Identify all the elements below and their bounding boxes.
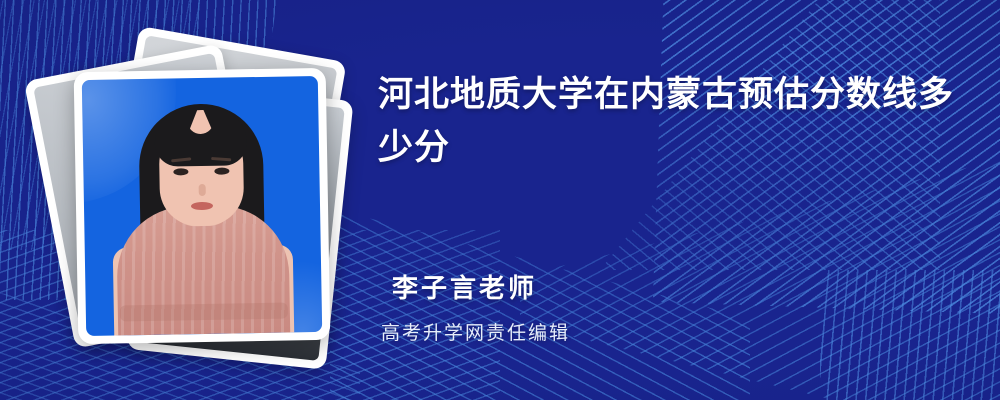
author-block: 李子言老师 高考升学网责任编辑 (378, 268, 964, 345)
teacher-portrait-photo (82, 76, 322, 336)
nose (199, 184, 206, 196)
banner-title: 河北地质大学在内蒙古预估分数线多少分 (378, 68, 964, 174)
portrait-figure (82, 76, 322, 336)
banner-text-column: 河北地质大学在内蒙古预估分数线多少分 李子言老师 高考升学网责任编辑 (372, 0, 972, 400)
photo-card-front (74, 68, 331, 344)
article-cover-banner: 河北地质大学在内蒙古预估分数线多少分 李子言老师 高考升学网责任编辑 (0, 0, 1000, 400)
author-name: 李子言老师 (378, 268, 964, 305)
author-role: 高考升学网责任编辑 (378, 318, 964, 345)
dress-waistband (120, 303, 288, 322)
photo-card-stack (44, 26, 344, 366)
